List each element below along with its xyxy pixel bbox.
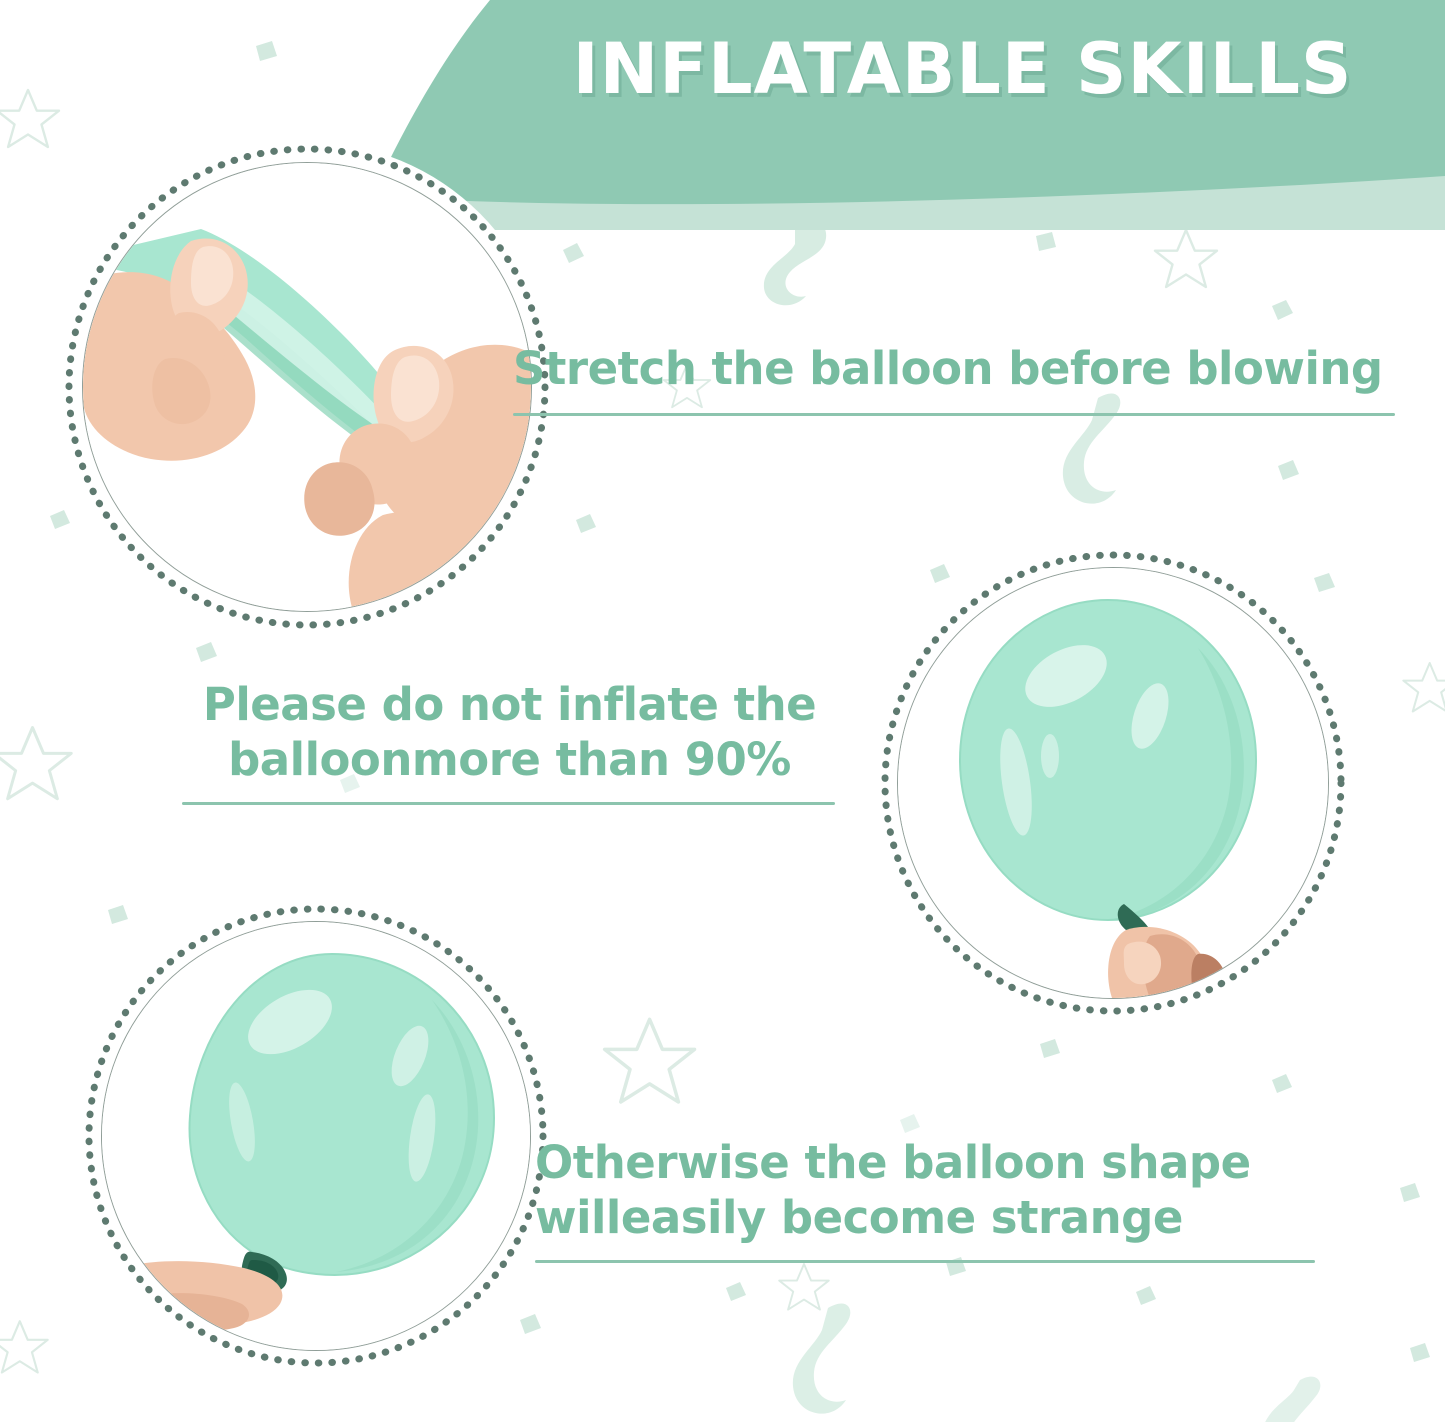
star-icon xyxy=(1155,230,1217,287)
star-icon xyxy=(605,1019,695,1102)
caption-line: willeasily become strange xyxy=(535,1191,1317,1246)
star-icon xyxy=(0,1321,48,1372)
star-icon xyxy=(0,728,71,799)
ribbon-streamer-icon xyxy=(764,222,826,306)
overinflated-balloon-photo xyxy=(102,922,530,1350)
inflated-balloon-photo xyxy=(898,568,1328,998)
photo-circle-stretch xyxy=(62,142,552,632)
star-icon xyxy=(0,90,59,147)
caption-line: balloonmore than 90% xyxy=(182,733,837,788)
caption-line: Stretch the balloon before blowing xyxy=(513,342,1398,397)
ribbon-streamer-icon xyxy=(793,1303,850,1413)
photo-circle-strange xyxy=(82,902,550,1370)
caption-inflate: Please do not inflate the balloonmore th… xyxy=(182,678,837,805)
photo-circle-inflated xyxy=(878,548,1348,1018)
caption-line: Please do not inflate the xyxy=(182,678,837,733)
caption-line: Otherwise the balloon shape xyxy=(535,1136,1317,1191)
star-icon xyxy=(779,1264,829,1310)
caption-stretch: Stretch the balloon before blowing xyxy=(513,342,1398,416)
hands-stretching-balloon-photo xyxy=(83,163,531,611)
infographic-page: INFLATABLE SKILLS xyxy=(0,0,1445,1422)
page-title: INFLATABLE SKILLS xyxy=(330,28,1445,110)
ribbon-streamer-icon xyxy=(1262,1377,1320,1422)
caption-strange: Otherwise the balloon shape willeasily b… xyxy=(535,1136,1317,1263)
header-banner: INFLATABLE SKILLS xyxy=(330,0,1445,230)
caption-underline xyxy=(535,1260,1315,1263)
star-icon xyxy=(1403,663,1445,711)
caption-underline xyxy=(513,413,1395,416)
caption-underline xyxy=(182,802,835,805)
